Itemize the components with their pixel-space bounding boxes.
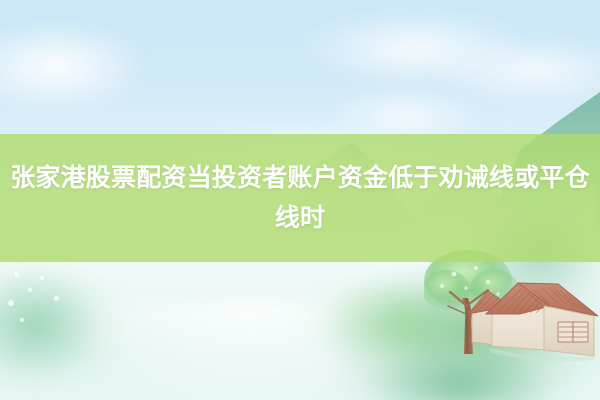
article-banner-image: 张家港股票配资当投资者账户资金低于劝诫线或平仓线时 [0,0,600,400]
house-illustration [466,272,600,364]
leaf-speckle [14,272,19,277]
leaf-speckle [20,318,24,322]
leaf-speckle [28,288,32,292]
leaf-speckle [40,276,44,280]
page-title: 张家港股票配资当投资者账户资金低于劝诫线或平仓线时 [0,158,600,238]
leaf-speckle [54,296,59,301]
title-overlay-band: 张家港股票配资当投资者账户资金低于劝诫线或平仓线时 [0,134,600,262]
leaf-speckle [8,300,14,306]
